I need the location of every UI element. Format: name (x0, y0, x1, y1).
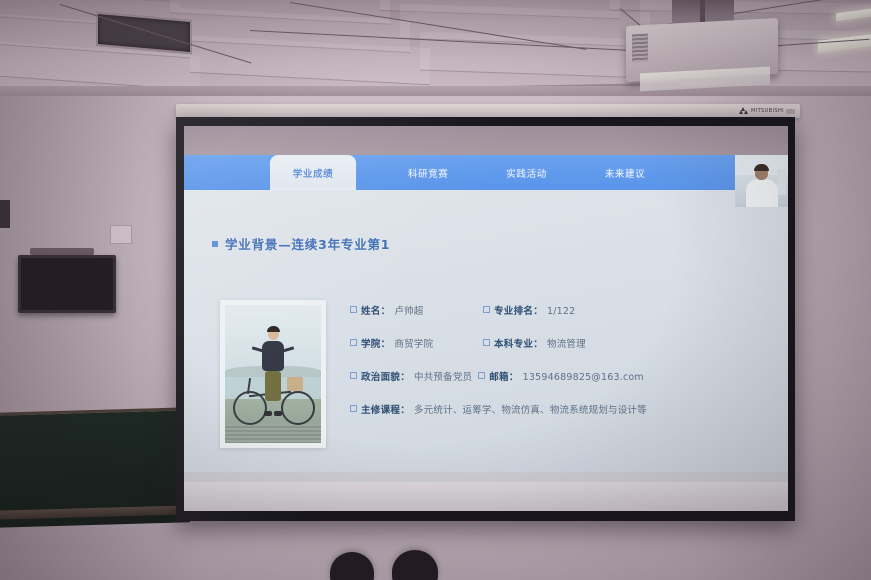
field-political-status: 政治面貌： 中共预备党员 (350, 369, 472, 383)
tab-research-competition[interactable]: 科研竞赛 (398, 155, 458, 190)
wall-speaker (0, 200, 10, 228)
presenter-video-overlay (735, 155, 788, 207)
projector-arm (700, 0, 705, 24)
bullet-square-icon (350, 405, 357, 412)
presentation-slide: 学业成绩 科研竞赛 实践活动 未来建议 (184, 155, 788, 472)
field-value: 13594689825@163.com (523, 372, 644, 383)
field-value: 中共预备党员 (414, 369, 472, 383)
tab-academic-results[interactable]: 学业成绩 (270, 155, 356, 190)
classroom-scene: MITSUBISHI 学业成绩 科研竞赛 实践活动 (0, 0, 871, 580)
bullet-square-icon (483, 339, 490, 346)
bullet-square-icon (483, 306, 490, 313)
bullet-square-icon (350, 372, 357, 379)
bullet-square-icon (478, 372, 485, 379)
field-main-courses: 主修课程： 多元统计、运筹学、物流仿真、物流系统规划与设计等 (350, 402, 647, 416)
field-name: 姓名： 卢帅超 (350, 303, 483, 317)
field-label: 本科专业： (494, 336, 543, 350)
info-row: 政治面貌： 中共预备党员 邮箱： 13594689825@163.com (350, 369, 680, 383)
screen-control-button[interactable] (786, 109, 795, 114)
tab-label: 实践活动 (506, 166, 546, 180)
field-value: 1/122 (547, 306, 575, 317)
projector-vent-grill (632, 34, 648, 63)
field-label: 政治面貌： (361, 369, 410, 383)
profile-photo (220, 300, 326, 448)
tab-label: 学业成绩 (293, 166, 333, 180)
field-value: 卢帅超 (394, 303, 423, 317)
field-email: 邮箱： 13594689825@163.com (478, 369, 644, 383)
field-label: 姓名： (361, 303, 390, 317)
title-bullet-icon (212, 241, 218, 247)
field-value: 多元统计、运筹学、物流仿真、物流系统规划与设计等 (414, 402, 647, 416)
mitsubishi-logo-icon (740, 107, 748, 114)
screen-bottom-margin (184, 482, 788, 511)
field-college: 学院： 商贸学院 (350, 336, 483, 350)
profile-info-list: 姓名： 卢帅超 专业排名： 1/122 学院： 商 (350, 303, 680, 416)
info-row: 学院： 商贸学院 本科专业： 物流管理 (350, 336, 680, 350)
mitsubishi-brand: MITSUBISHI (740, 107, 784, 114)
screen-top-margin (184, 126, 788, 155)
info-row: 姓名： 卢帅超 专业排名： 1/122 (350, 303, 680, 317)
tab-label: 科研竞赛 (408, 166, 448, 180)
slide-tabs: 学业成绩 科研竞赛 实践活动 未来建议 (270, 155, 655, 190)
field-label: 邮箱： (489, 369, 518, 383)
field-label: 专业排名： (494, 303, 543, 317)
info-row: 主修课程： 多元统计、运筹学、物流仿真、物流系统规划与设计等 (350, 402, 680, 416)
wall-mounted-tv (18, 255, 116, 313)
field-value: 物流管理 (547, 336, 586, 350)
tab-practice-activities[interactable]: 实践活动 (496, 155, 556, 190)
tab-future-suggestions[interactable]: 未来建议 (595, 155, 655, 190)
projection-screen-case (176, 104, 800, 118)
screen-surface: 学业成绩 科研竞赛 实践活动 未来建议 (184, 126, 788, 511)
bullet-square-icon (350, 339, 357, 346)
brand-text: MITSUBISHI (751, 108, 784, 114)
field-label: 主修课程： (361, 402, 410, 416)
field-value: 商贸学院 (394, 336, 433, 350)
field-undergraduate-major: 本科专业： 物流管理 (483, 336, 586, 350)
tab-label: 未来建议 (605, 166, 645, 180)
slide-title: 学业背景—连续3年专业第1 (225, 234, 390, 253)
field-label: 学院： (361, 336, 390, 350)
slide-title-row: 学业背景—连续3年专业第1 (212, 234, 390, 253)
projection-screen: 学业成绩 科研竞赛 实践活动 未来建议 (176, 117, 795, 521)
bullet-square-icon (350, 306, 357, 313)
tv-bracket (30, 248, 94, 255)
wall-switch-box (110, 225, 132, 244)
field-major-rank: 专业排名： 1/122 (483, 303, 575, 317)
